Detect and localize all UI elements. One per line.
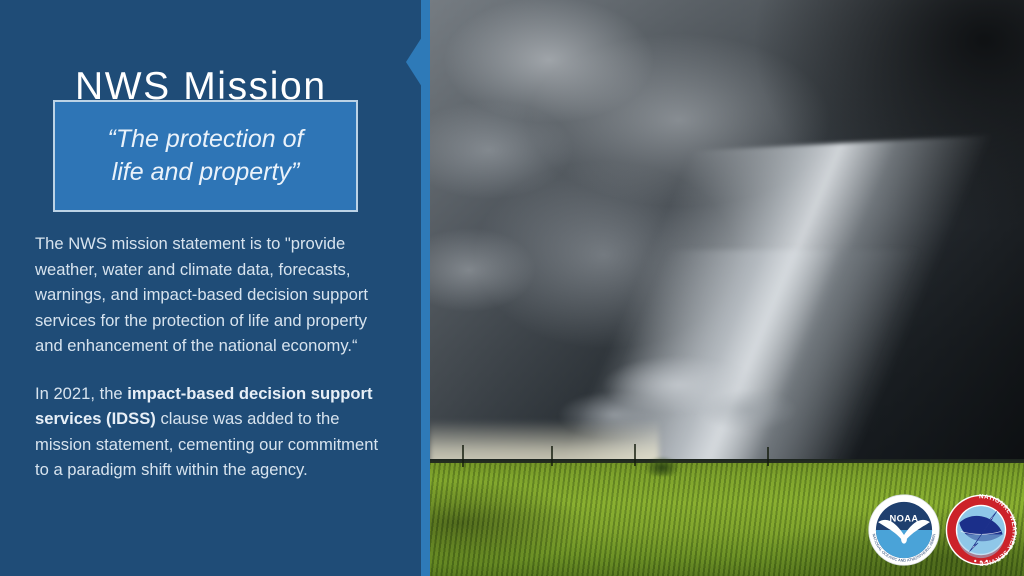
mission-quote-box: “The protection of life and property” (53, 100, 358, 212)
body-copy: The NWS mission statement is to "provide… (35, 231, 395, 483)
fence-post (634, 444, 636, 466)
paragraph-idss: In 2021, the impact-based decision suppo… (35, 381, 395, 483)
fence-post (767, 447, 769, 466)
quote-line-2: life and property” (112, 158, 300, 186)
national-weather-service-logo-icon: NATIONAL WEATHER SERVICE (945, 494, 1017, 566)
field-bush (639, 448, 685, 476)
storm-photo (429, 0, 1024, 576)
noaa-logo-icon: NOAA NATIONAL OCEANIC AND ATMOSPHERIC AD… (868, 494, 940, 566)
fence-post (551, 446, 553, 466)
slide: NWS Mission “The protection of life and … (0, 0, 1024, 576)
paragraph-mission-statement: The NWS mission statement is to "provide… (35, 231, 395, 359)
mission-quote-text: “The protection of life and property” (108, 123, 304, 189)
svg-text:NOAA: NOAA (890, 513, 919, 523)
panel-accent-strip (421, 0, 430, 576)
paragraph-spacer (35, 359, 395, 381)
agency-logos: NOAA NATIONAL OCEANIC AND ATMOSPHERIC AD… (868, 494, 1018, 570)
fence-post (462, 445, 464, 467)
quote-line-1: “The protection of (108, 125, 304, 153)
idss-text-pre: In 2021, the (35, 384, 127, 403)
